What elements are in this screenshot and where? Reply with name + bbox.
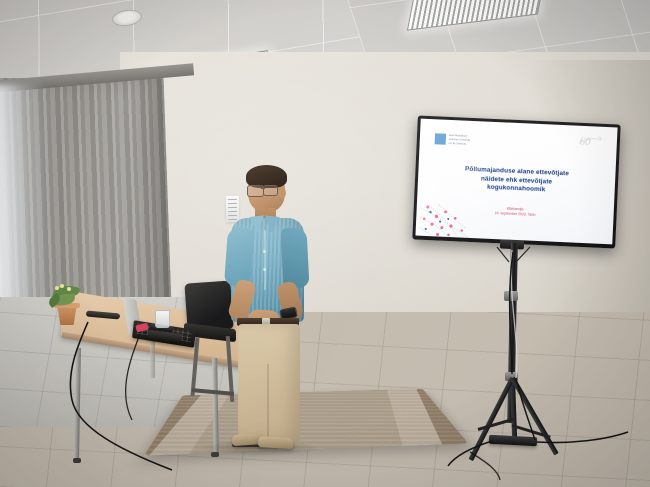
- eyeglasses-icon: [247, 185, 264, 197]
- presenter-shoe: [258, 436, 295, 449]
- plant-blossom: [55, 286, 59, 290]
- shirt-button: [263, 268, 266, 271]
- photo-scene: Eesti Maaülikool Estonian University of …: [0, 0, 650, 487]
- tv-stand-clamp: [504, 291, 518, 301]
- plant-blossom: [60, 284, 64, 288]
- water-glass: [155, 310, 170, 328]
- table-leg-foot: [73, 458, 81, 463]
- university-logo-text: Eesti Maaülikool Estonian University of …: [449, 134, 471, 147]
- anniversary-logo-icon: 60: [578, 134, 609, 149]
- trouser-seam: [267, 364, 269, 442]
- tv-bezel: Eesti Maaülikool Estonian University of …: [412, 115, 620, 248]
- plant-blossom: [67, 287, 71, 291]
- television[interactable]: Eesti Maaülikool Estonian University of …: [412, 115, 620, 248]
- tv-screen[interactable]: Eesti Maaülikool Estonian University of …: [415, 119, 617, 245]
- eyeglasses-bridge: [261, 188, 265, 189]
- shirt-sleeve: [280, 227, 309, 288]
- shirt-button: [263, 250, 266, 253]
- slide-title: Põllumajanduse alane ettevõtjate näidete…: [435, 164, 599, 197]
- slide-decoration-icon: [417, 202, 476, 239]
- university-logo: Eesti Maaülikool Estonian University of …: [435, 133, 471, 146]
- logo-text-line: of Life Sciences: [449, 143, 471, 147]
- eyeglasses-icon: [263, 185, 278, 196]
- presenter-ear: [279, 188, 286, 198]
- presenter-trousers: [238, 324, 300, 442]
- presenter: [222, 168, 314, 448]
- shirt-placket: [264, 230, 266, 290]
- university-logo-mark-icon: [435, 133, 446, 144]
- shirt-sleeve: [224, 227, 254, 287]
